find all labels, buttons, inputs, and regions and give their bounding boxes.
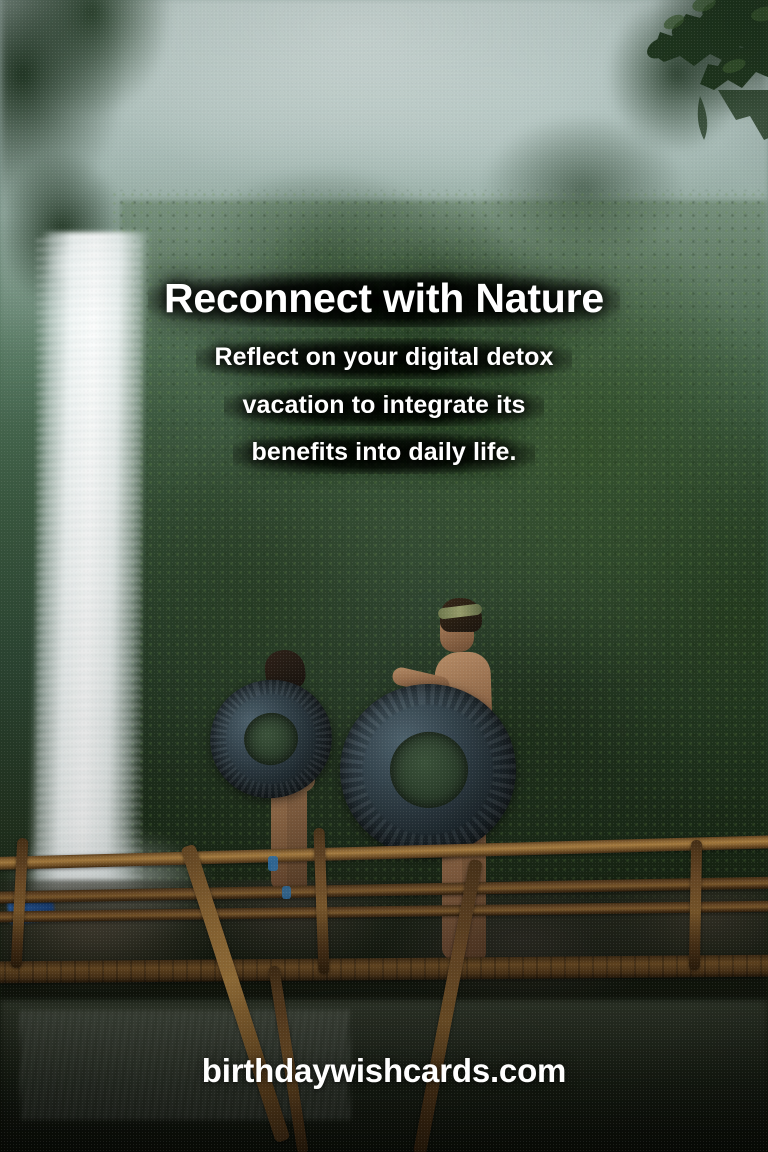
subtitle-block: Reflect on your digital detox vacation t… (0, 338, 768, 481)
subtitle-line-1: Reflect on your digital detox (196, 338, 571, 379)
subtitle-line-2: vacation to integrate its (224, 386, 543, 427)
text-overlay: Reconnect with Nature Reflect on your di… (0, 0, 768, 1152)
headline-block: Reconnect with Nature (0, 272, 768, 327)
page-title: Reconnect with Nature (148, 272, 620, 327)
subtitle-line-3: benefits into daily life. (233, 433, 534, 474)
website-url[interactable]: birthdaywishcards.com (0, 1052, 768, 1090)
greeting-card: Reconnect with Nature Reflect on your di… (0, 0, 768, 1152)
